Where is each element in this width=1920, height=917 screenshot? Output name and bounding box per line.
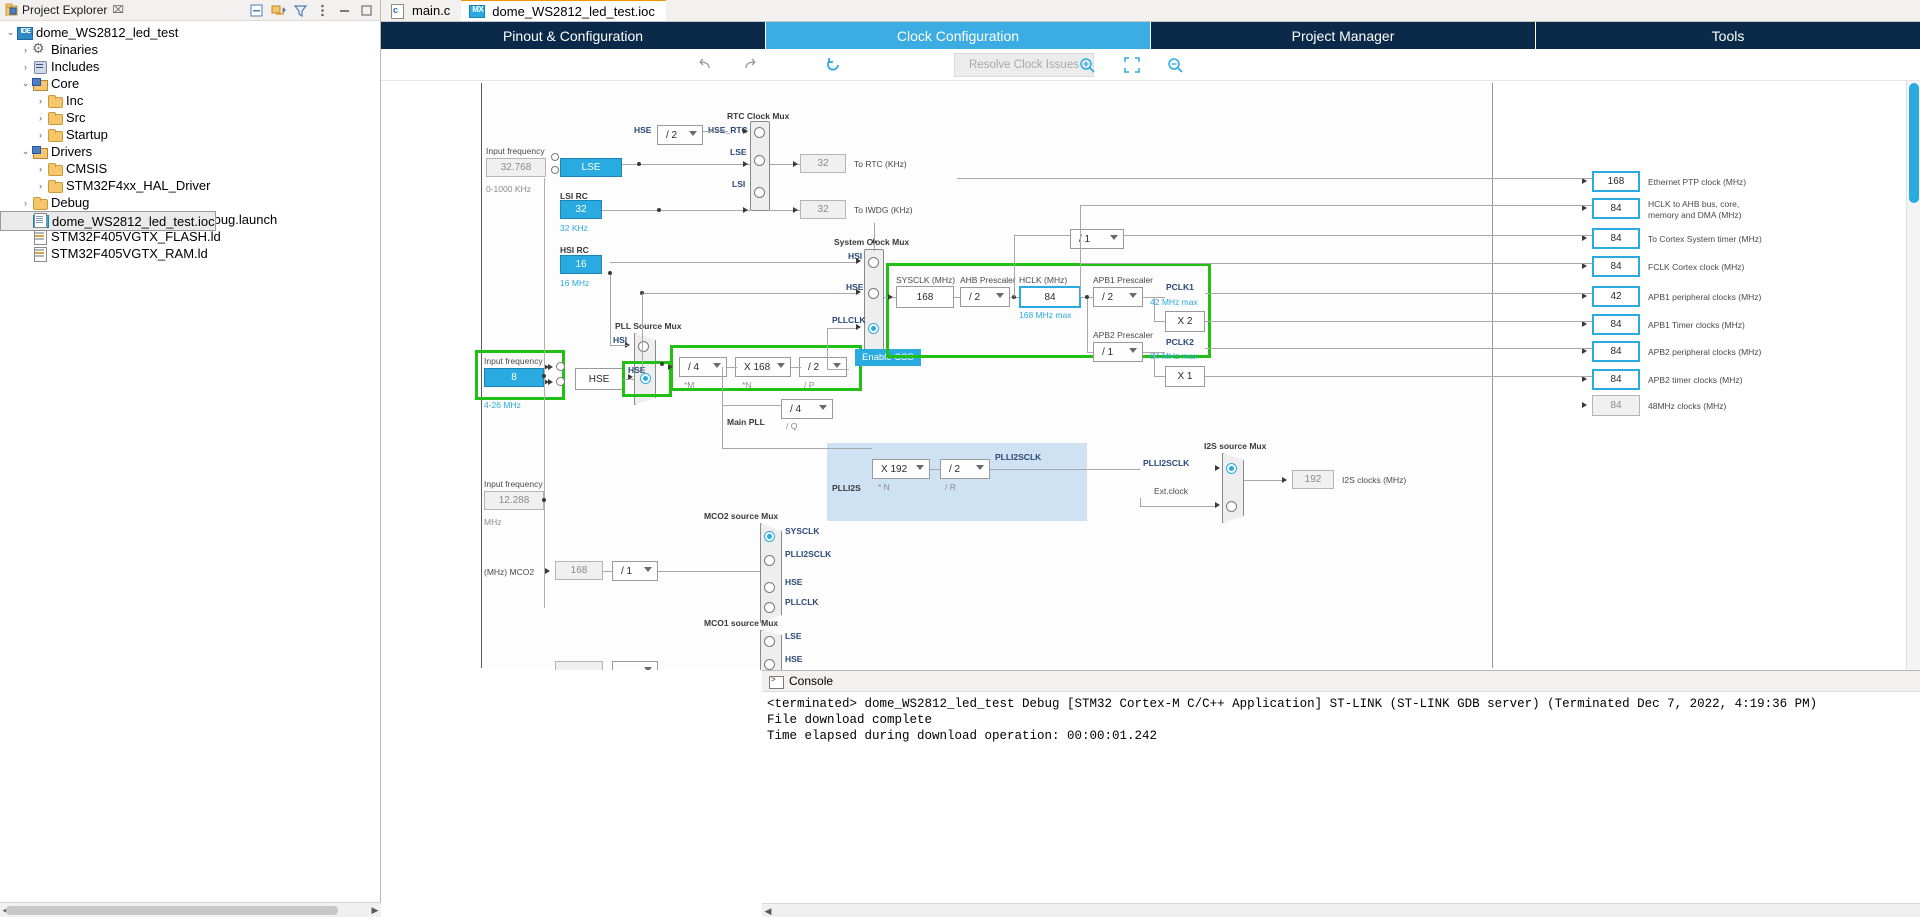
editor-tab-label: main.c [412,3,450,18]
nav-tab-label: Project Manager [1292,28,1395,44]
rtc-mux-radio-lsi[interactable] [754,187,765,198]
plli2s-n-label: * N [878,482,890,492]
console-output[interactable]: <terminated> dome_WS2812_led_test Debug … [762,692,1920,744]
apb1-prescaler-value: / 2 [1102,292,1113,303]
apb2-prescaler-select[interactable]: / 1 [1093,342,1143,362]
project-explorer-title: Project Explorer [22,3,107,17]
clock-output-label: APB2 peripheral clocks (MHz) [1648,347,1761,358]
pll-n-multiplier[interactable]: X 168 [735,357,791,377]
clock-output-label: 48MHz clocks (MHz) [1648,401,1726,412]
i2s-clocks-value: 192 [1292,470,1334,489]
plli2s-n-value: X 192 [881,464,907,475]
mco2-divider-select[interactable]: / 1 [612,561,658,581]
plli2s-title: PLLI2S [832,483,861,493]
expand-arrow-icon[interactable]: › [34,113,47,123]
mco2-pllclk-label: PLLCLK [785,597,819,607]
mco2-mux-radio-sysclk[interactable] [764,531,775,542]
console-line: File download complete [767,712,1920,728]
chevron-down-icon [916,465,924,470]
tree-item-label: Binaries [51,42,98,57]
apb1-max-label: 42 MHz max [1150,297,1198,307]
mco2-source-mux-title: MCO2 source Mux [704,511,778,521]
clock-output-label: Ethernet PTP clock (MHz) [1648,177,1746,188]
cubemx-nav-tabs[interactable]: Pinout & ConfigurationClock Configuratio… [381,22,1920,49]
linker-script-icon [32,246,48,261]
pll-n-value: X 168 [744,362,770,373]
i2s-mux-radio-plli2sclk[interactable] [1226,463,1237,474]
maximize-icon[interactable] [359,3,374,18]
tree-item-label: dome_WS2812_led_test.ioc [52,214,215,229]
folder-icon [47,110,63,125]
project-explorer-icon [5,3,19,17]
hse-input-range-label: 4-26 MHz [484,400,521,410]
launch-config-icon [32,212,48,227]
nav-tab-pinout-configuration[interactable]: Pinout & Configuration [381,22,766,49]
clock-output-label: APB1 Timer clocks (MHz) [1648,320,1745,331]
undo-arrow-icon[interactable] [694,54,716,76]
to-iwdg-value: 32 [800,200,846,219]
binaries-icon [32,42,48,57]
clock-output-label: To Cortex System timer (MHz) [1648,234,1762,245]
scroll-right-arrow[interactable]: ▶ [369,904,381,917]
tree-item[interactable]: ›STM32F4xx_HAL_Driver [0,177,380,194]
rtc-hse-label: HSE [634,125,651,135]
collapse-all-icon[interactable] [249,3,264,18]
rtc-lsi-label: LSI [732,179,745,189]
source-folder-icon [32,76,48,91]
apb2-timer-multiplier[interactable]: X 1 [1165,366,1205,387]
i2s-input-frequency-value[interactable]: 12.288 [484,491,544,510]
chevron-down-icon [644,667,652,670]
folder-icon [47,93,63,108]
mco1-mux-radio-hse[interactable] [764,659,775,670]
apb1-prescaler-select[interactable]: / 2 [1093,287,1143,307]
explorer-horizontal-scrollbar[interactable]: ◀ ▶ [0,902,381,917]
console-tab-bar: Console [762,671,1920,692]
mco1-hse-label: HSE [785,654,802,664]
cortex-prescaler-select[interactable]: / 1 [1070,229,1124,249]
rtc-clock-mux-title: RTC Clock Mux [727,111,789,121]
pll-m-value: / 4 [688,362,699,373]
folder-icon [32,195,48,210]
nav-tab-label: Clock Configuration [897,28,1019,44]
lse-input-frequency-value[interactable]: 32.768 [486,158,546,177]
rtc-mux-radio-lse[interactable] [754,155,765,166]
expand-arrow-icon[interactable]: › [19,62,32,72]
console-line: Time elapsed during download operation: … [767,728,1920,744]
project-explorer-panel: Project Explorer ⌧ [0,0,381,917]
nav-tab-label: Pinout & Configuration [503,28,643,44]
mco2-plli2sclk-label: PLLI2SCLK [785,549,831,559]
editor-tab[interactable]: main.c [381,0,461,21]
chevron-down-icon [644,567,652,572]
rtc-mux-radio-hse[interactable] [754,127,765,138]
ide-project-icon [17,27,33,40]
reset-clock-icon[interactable] [822,54,844,76]
tree-item[interactable]: ›Includes [0,58,380,75]
pll-n-label: *N [742,380,751,390]
apb2-prescaler-label: APB2 Prescaler [1093,330,1153,340]
clock-output-value[interactable]: 84 [1592,395,1640,416]
mco2-hse-label: HSE [785,577,802,587]
clock-tree-diagram: Input frequency 32.768 0-1000 KHz LSE LS… [481,83,1493,668]
clock-output-label: APB2 timer clocks (MHz) [1648,375,1742,386]
plli2s-r-value: / 2 [949,464,960,475]
expand-arrow-icon[interactable]: ⌄ [19,146,32,157]
i2s-ext-clock-label: Ext.clock [1154,486,1188,496]
sysclk-mux-radio-hse[interactable] [868,288,879,299]
chevron-down-icon [976,465,984,470]
source-folder-icon [32,144,48,159]
chevron-down-icon [689,131,697,136]
nav-tab-clock-configuration[interactable]: Clock Configuration [766,22,1151,49]
mco1-value-placeholder [555,661,603,670]
tree-item-label: STM32F405VGTX_FLASH.ld [51,229,221,244]
chevron-down-icon [996,293,1004,298]
clock-output-value[interactable]: 84 [1592,198,1640,219]
mco2-mux-radio-pllclk[interactable] [764,602,775,613]
tree-item-label: Core [51,76,79,91]
minimize-icon[interactable] [337,3,352,18]
pll-q-divider[interactable]: / 4 [781,399,833,419]
apb1-timer-multiplier[interactable]: X 2 [1165,311,1205,332]
hse-input-frequency-label: Input frequency [484,356,543,366]
canvas-vertical-scrollbar[interactable] [1906,81,1920,670]
lse-bypass-radio-1[interactable] [551,153,559,161]
tree-item[interactable]: ›Startup [0,126,380,143]
expand-arrow-icon[interactable]: › [34,96,47,106]
rtc-lse-label: LSE [730,147,747,157]
resolve-clock-issues-button[interactable]: Resolve Clock Issues [954,53,1094,77]
editor-tab[interactable]: dome_WS2812_led_test.ioc [461,0,666,21]
plli2s-group-background [827,443,1087,521]
chevron-down-icon [1129,293,1137,298]
plli2s-r-divider[interactable]: / 2 [940,459,990,479]
mco1-lse-label: LSE [785,631,802,641]
zoom-in-icon[interactable] [1076,54,1098,76]
i2s-plli2sclk-label: PLLI2SCLK [1143,458,1189,468]
pll-p-label: / P [804,380,814,390]
tree-item-label: Includes [51,59,99,74]
chevron-down-icon [833,363,841,368]
sysclk-mux-radio-hsi[interactable] [868,257,879,268]
clock-output-value[interactable]: 84 [1592,256,1640,277]
c-source-icon [389,3,405,18]
tree-item[interactable]: ›Src [0,109,380,126]
tree-item-label: Src [66,110,86,125]
clock-output-value[interactable]: 84 [1592,228,1640,249]
chevron-down-icon [713,363,721,368]
zoom-out-icon[interactable] [1164,54,1186,76]
pclk2-label: PCLK2 [1166,337,1194,347]
ahb-prescaler-label: AHB Prescaler [960,275,1016,285]
tree-item-label: CMSIS [66,161,107,176]
tree-item-label: Inc [66,93,83,108]
linker-script-icon [32,229,48,244]
lse-bypass-radio-2[interactable] [551,166,559,174]
chevron-down-icon [1110,235,1118,240]
apb2-prescaler-value: / 1 [1102,347,1113,358]
mco2-mux-radio-hse[interactable] [764,582,775,593]
plli2s-r-label: / R [945,482,956,492]
expand-arrow-icon[interactable]: › [19,198,32,208]
pll-mux-radio-hsi[interactable] [638,341,649,352]
includes-icon [32,59,48,74]
redo-arrow-icon[interactable] [739,54,761,76]
pll-q-value: / 4 [790,404,801,415]
tree-item[interactable]: ⌄Core [0,75,380,92]
mco2-divider-value: / 1 [621,566,632,577]
filter-icon[interactable] [293,3,308,18]
console-tab-label: Console [789,674,833,688]
hse-bypass-radio-2[interactable] [556,377,565,386]
clock-output-label: HCLK to AHB bus, core,memory and DMA (MH… [1648,199,1742,221]
folder-icon [47,127,63,142]
pll-q-label: / Q [786,421,797,431]
console-header-line: <terminated> dome_WS2812_led_test Debug … [767,696,1920,712]
sysclk-value[interactable]: 168 [896,286,954,308]
stm32cubeide-window: Project Explorer ⌧ [0,0,1920,917]
expand-arrow-icon[interactable]: › [19,45,32,55]
chevron-down-icon [1129,348,1137,353]
close-icon[interactable]: ⌧ [112,5,124,16]
scroll-thumb[interactable] [6,906,338,915]
sysclk-mux-radio-pllclk[interactable] [868,323,879,334]
console-icon [768,674,784,689]
tree-item[interactable]: ⌄dome_WS2812_led_test [0,24,380,41]
lsi-value: 32 [560,200,602,219]
clock-output-value[interactable]: 84 [1592,369,1640,390]
mco2-prefix-label: (MHz) MCO2 [484,567,534,577]
tree-item[interactable]: ›Inc [0,92,380,109]
tree-item[interactable]: STM32F405VGTX_RAM.ld [0,245,380,262]
i2s-input-frequency-label: Input frequency [484,479,543,489]
lse-input-range-label: 0-1000 KHz [486,184,531,194]
pll-p-value: / 2 [808,362,819,373]
i2s-source-mux-title: I2S source Mux [1204,441,1266,451]
scroll-thumb[interactable] [1909,83,1919,203]
mco1-mux-radio-lse[interactable] [764,636,775,647]
to-iwdg-label: To IWDG (KHz) [854,205,913,215]
editor-tab-label: dome_WS2812_led_test.ioc [492,4,655,19]
tree-item[interactable]: ⌄Drivers [0,143,380,160]
project-explorer-titlebar: Project Explorer ⌧ [0,0,380,21]
clock-output-value[interactable]: 168 [1592,171,1640,192]
hclk-max-label: 168 MHz max [1019,310,1071,320]
mco2-mux-radio-plli2sclk[interactable] [764,555,775,566]
pclk1-label: PCLK1 [1166,282,1194,292]
ahb-prescaler-value: / 2 [969,292,980,303]
tab-console[interactable]: Console [787,671,841,692]
project-tree[interactable]: ⌄dome_WS2812_led_test›Binaries›Includes⌄… [0,21,380,262]
i2s-clocks-label: I2S clocks (MHz) [1342,475,1406,485]
tree-item-label: Drivers [51,144,92,159]
expand-arrow-icon[interactable]: ⌄ [4,27,17,38]
main-pll-title: Main PLL [727,417,765,427]
hse-input-frequency-value[interactable]: 8 [484,368,544,387]
rtc-hse-rtc-label: HSE_RTC [708,125,748,135]
folder-icon [47,161,63,176]
nav-tab-project-manager[interactable]: Project Manager [1151,22,1536,49]
clock-output-value[interactable]: 84 [1592,314,1640,335]
lsi-unit: 32 KHz [560,223,588,233]
tree-item[interactable]: ›Binaries [0,41,380,58]
pll-m-label: *M [684,380,694,390]
mco1-source-mux-title: MCO1 source Mux [704,618,778,628]
nav-tab-tools[interactable]: Tools [1536,22,1920,49]
tree-item[interactable]: ›Debug [0,194,380,211]
to-rtc-label: To RTC (KHz) [854,159,907,169]
console-horizontal-scrollbar[interactable]: ◀ ▶ [762,903,1920,917]
editor-tab-bar[interactable]: main.cdome_WS2812_led_test.ioc [381,0,1920,22]
plli2s-n-multiplier[interactable]: X 192 [872,459,930,479]
console-panel: Console [762,670,1920,917]
tree-item-label: STM32F4xx_HAL_Driver [66,178,211,193]
mco2-sysclk-label: SYSCLK [785,526,819,536]
i2s-mux-radio-extclock[interactable] [1226,501,1237,512]
rtc-hse-divider-value: / 2 [666,130,677,141]
ahb-prescaler-select[interactable]: / 2 [960,287,1010,307]
scroll-left-arrow[interactable]: ◀ [762,905,774,917]
rtc-hse-divider[interactable]: / 2 [657,125,703,145]
chevron-down-icon [777,363,785,368]
tree-item-label: dome_WS2812_led_test [36,25,178,40]
clock-output-value[interactable]: 42 [1592,286,1640,307]
hse-bypass-radio-1[interactable] [556,362,565,371]
link-with-editor-icon[interactable] [271,3,286,18]
apb1-prescaler-label: APB1 Prescaler [1093,275,1153,285]
hsi-unit: 16 MHz [560,278,589,288]
i2s-input-unit-label: MHz [484,517,501,527]
folder-icon [47,178,63,193]
lse-block[interactable]: LSE [560,158,622,177]
clock-output-value[interactable]: 84 [1592,341,1640,362]
sysclk-label: SYSCLK (MHz) [896,275,955,285]
expand-arrow-icon[interactable]: › [34,164,47,174]
to-rtc-value: 32 [800,154,846,173]
mco1-divider-select[interactable] [612,661,658,670]
hclk-label: HCLK (MHz) [1019,275,1067,285]
clock-tree-canvas[interactable]: Input frequency 32.768 0-1000 KHz LSE LS… [381,81,1920,670]
hsi-title: HSI RC [560,245,589,255]
output-arrow-icon [1582,402,1587,408]
clock-output-label: APB1 peripheral clocks (MHz) [1648,292,1761,303]
project-explorer-toolbar [249,3,374,18]
mco2-value: 168 [555,561,603,580]
plli2sclk-label: PLLI2SCLK [995,452,1041,462]
nav-tab-label: Tools [1712,28,1745,44]
clock-config-toolbar: Resolve Clock Issues [381,49,1920,81]
tree-item-label: Debug [51,195,89,210]
expand-arrow-icon[interactable]: ⌄ [19,78,32,89]
view-menu-icon[interactable] [315,3,330,18]
tree-item[interactable]: ›CMSIS [0,160,380,177]
clock-output-label: FCLK Cortex clock (MHz) [1648,262,1744,273]
hse-block[interactable]: HSE [575,368,623,390]
fit-to-window-icon[interactable] [1121,54,1143,76]
lse-input-frequency-label: Input frequency [486,146,545,156]
tree-item-label: STM32F405VGTX_RAM.ld [51,246,208,261]
pll-m-divider[interactable]: / 4 [679,357,727,377]
pll-p-divider[interactable]: / 2 [799,357,847,377]
expand-arrow-icon[interactable]: › [34,181,47,191]
tree-item-label: Startup [66,127,108,142]
editor-area: main.cdome_WS2812_led_test.ioc Pinout & … [381,0,1920,917]
expand-arrow-icon[interactable]: › [34,130,47,140]
pll-source-mux-title: PLL Source Mux [615,321,681,331]
cubemx-ioc-icon [469,5,485,18]
chevron-down-icon [819,405,827,410]
hsi-value: 16 [560,255,602,274]
hclk-value[interactable]: 84 [1019,286,1081,308]
